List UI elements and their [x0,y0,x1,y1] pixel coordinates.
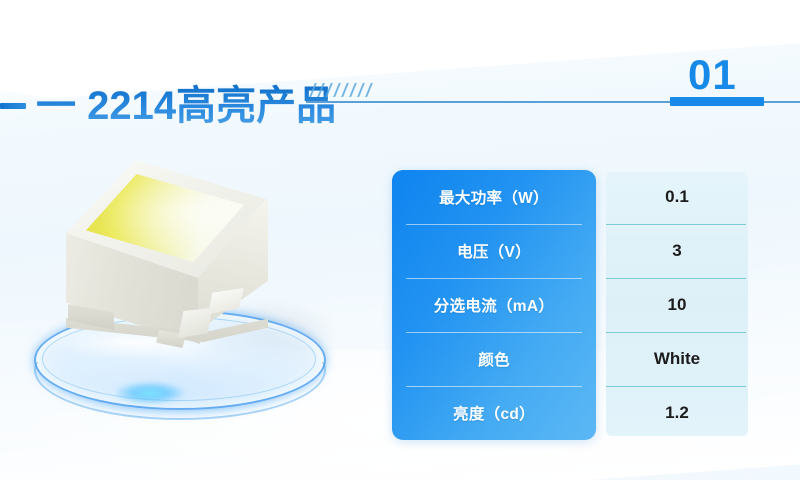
table-row: 分选电流（mA） 10 [392,278,748,332]
header-rule-accent-bar [670,97,764,106]
slide-header: 一 2214高亮产品 01 [0,0,800,140]
table-row: 颜色 White [392,332,748,386]
spec-label: 分选电流（mA） [392,278,596,332]
spec-label: 亮度（cd） [392,386,596,440]
led-package [60,160,300,380]
spec-label: 电压（V） [392,224,596,278]
spec-table: 最大功率（W） 0.1 电压（V） 3 分选电流（mA） 10 颜色 White… [392,170,748,442]
spec-rows: 最大功率（W） 0.1 电压（V） 3 分选电流（mA） 10 颜色 White… [392,170,748,440]
page-title: 一 2214高亮产品 [36,83,336,129]
spec-value: 3 [606,224,748,278]
table-row: 电压（V） 3 [392,224,748,278]
spec-value: 0.1 [606,170,748,224]
section-number: 01 [688,53,737,97]
table-row: 亮度（cd） 1.2 [392,386,748,440]
title-dash-icon [0,103,26,109]
hatch-decoration-icon [312,83,374,97]
spec-value: 10 [606,278,748,332]
spec-value: White [606,332,748,386]
spec-value: 1.2 [606,386,748,440]
table-row: 最大功率（W） 0.1 [392,170,748,224]
product-illustration [20,150,360,450]
stage-disc-hotspot [115,382,185,404]
spec-label: 最大功率（W） [392,170,596,224]
slide-root: 一 2214高亮产品 01 [0,0,800,480]
spec-label: 颜色 [392,332,596,386]
